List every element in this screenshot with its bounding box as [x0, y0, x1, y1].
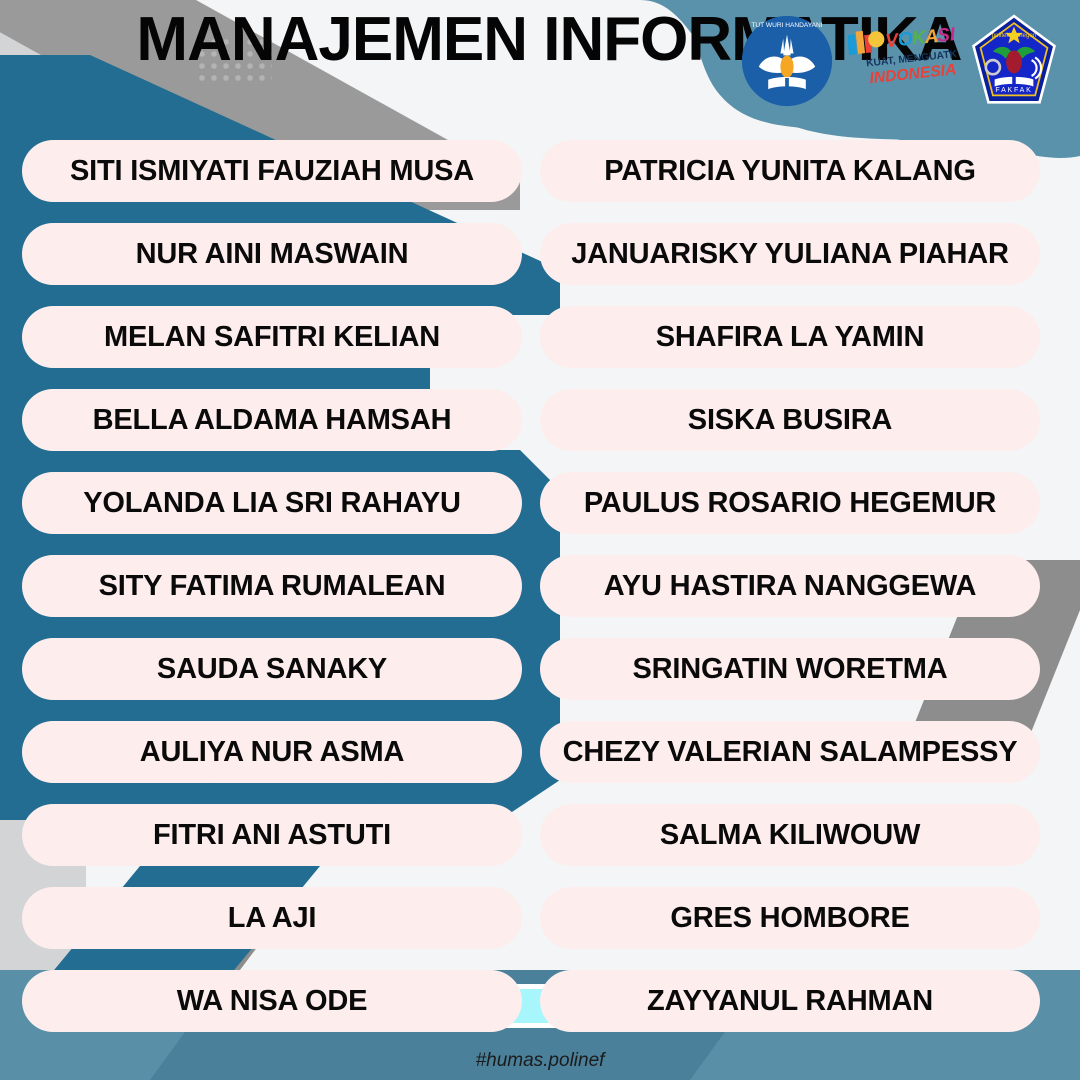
name-label: GRES HOMBORE [670, 904, 909, 933]
name-label: AULIYA NUR ASMA [140, 738, 404, 767]
name-label: BELLA ALDAMA HAMSAH [93, 406, 452, 435]
name-label: SALMA KILIWOUW [660, 821, 920, 850]
name-pill: SRINGATIN WORETMA [540, 638, 1040, 700]
name-column-right: PATRICIA YUNITA KALANGJANUARISKY YULIANA… [540, 140, 1040, 1053]
name-pill: BELLA ALDAMA HAMSAH [22, 389, 522, 451]
svg-text:FAKFAK: FAKFAK [995, 87, 1032, 94]
name-label: NUR AINI MASWAIN [136, 240, 409, 269]
vokasi-kuat-menguatkan-indonesia-logo: V O K A SI KUAT, MENGUATKAN INDONESIA [848, 26, 956, 96]
name-label: CHEZY VALERIAN SALAMPESSY [563, 738, 1018, 767]
name-pill: SITI ISMIYATI FAUZIAH MUSA [22, 140, 522, 202]
name-label: SISKA BUSIRA [688, 406, 892, 435]
name-label: MELAN SAFITRI KELIAN [104, 323, 440, 352]
name-pill: SHAFIRA LA YAMIN [540, 306, 1040, 368]
name-label: JANUARISKY YULIANA PIAHAR [571, 240, 1009, 269]
name-label: FITRI ANI ASTUTI [153, 821, 391, 850]
name-pill: NUR AINI MASWAIN [22, 223, 522, 285]
name-pill: SALMA KILIWOUW [540, 804, 1040, 866]
name-pill: ZAYYANUL RAHMAN [540, 970, 1040, 1032]
name-label: PATRICIA YUNITA KALANG [604, 157, 976, 186]
logo-row: TUT WURI HANDAYANI V O [740, 14, 1058, 108]
name-pill: GRES HOMBORE [540, 887, 1040, 949]
name-label: SITY FATIMA RUMALEAN [99, 572, 446, 601]
name-label: LA AJI [228, 904, 317, 933]
name-label: ZAYYANUL RAHMAN [647, 987, 933, 1016]
name-pill: MELAN SAFITRI KELIAN [22, 306, 522, 368]
name-pill: AULIYA NUR ASMA [22, 721, 522, 783]
name-label: SHAFIRA LA YAMIN [656, 323, 925, 352]
name-columns: SITI ISMIYATI FAUZIAH MUSANUR AINI MASWA… [0, 0, 1080, 1080]
name-label: YOLANDA LIA SRI RAHAYU [83, 489, 460, 518]
name-pill: WA NISA ODE [22, 970, 522, 1032]
name-pill: SAUDA SANAKY [22, 638, 522, 700]
name-label: PAULUS ROSARIO HEGEMUR [584, 489, 996, 518]
name-pill: LA AJI [22, 887, 522, 949]
name-pill: YOLANDA LIA SRI RAHAYU [22, 472, 522, 534]
svg-text:SI: SI [936, 26, 956, 46]
name-pill: SITY FATIMA RUMALEAN [22, 555, 522, 617]
name-column-left: SITI ISMIYATI FAUZIAH MUSANUR AINI MASWA… [22, 140, 522, 1053]
poster-root: MANAJEMEN INFORMATIKA TUT WURI HANDAYANI [0, 0, 1080, 1080]
name-pill: PAULUS ROSARIO HEGEMUR [540, 472, 1040, 534]
name-pill: AYU HASTIRA NANGGEWA [540, 555, 1040, 617]
svg-text:politeknik negeri: politeknik negeri [992, 32, 1037, 39]
name-label: WA NISA ODE [177, 987, 368, 1016]
svg-text:TUT WURI HANDAYANI: TUT WURI HANDAYANI [751, 22, 822, 29]
name-pill: CHEZY VALERIAN SALAMPESSY [540, 721, 1040, 783]
name-label: SAUDA SANAKY [157, 655, 387, 684]
tut-wuri-handayani-logo: TUT WURI HANDAYANI [740, 14, 834, 108]
name-pill: FITRI ANI ASTUTI [22, 804, 522, 866]
name-label: SITI ISMIYATI FAUZIAH MUSA [70, 157, 474, 186]
name-pill: JANUARISKY YULIANA PIAHAR [540, 223, 1040, 285]
footer-hashtag: #humas.polinef [0, 1050, 1080, 1072]
name-pill: SISKA BUSIRA [540, 389, 1040, 451]
name-pill: PATRICIA YUNITA KALANG [540, 140, 1040, 202]
name-label: SRINGATIN WORETMA [632, 655, 947, 684]
name-label: AYU HASTIRA NANGGEWA [604, 572, 977, 601]
politeknik-negeri-fakfak-logo: politeknik negeri FAKFAK [970, 14, 1058, 108]
